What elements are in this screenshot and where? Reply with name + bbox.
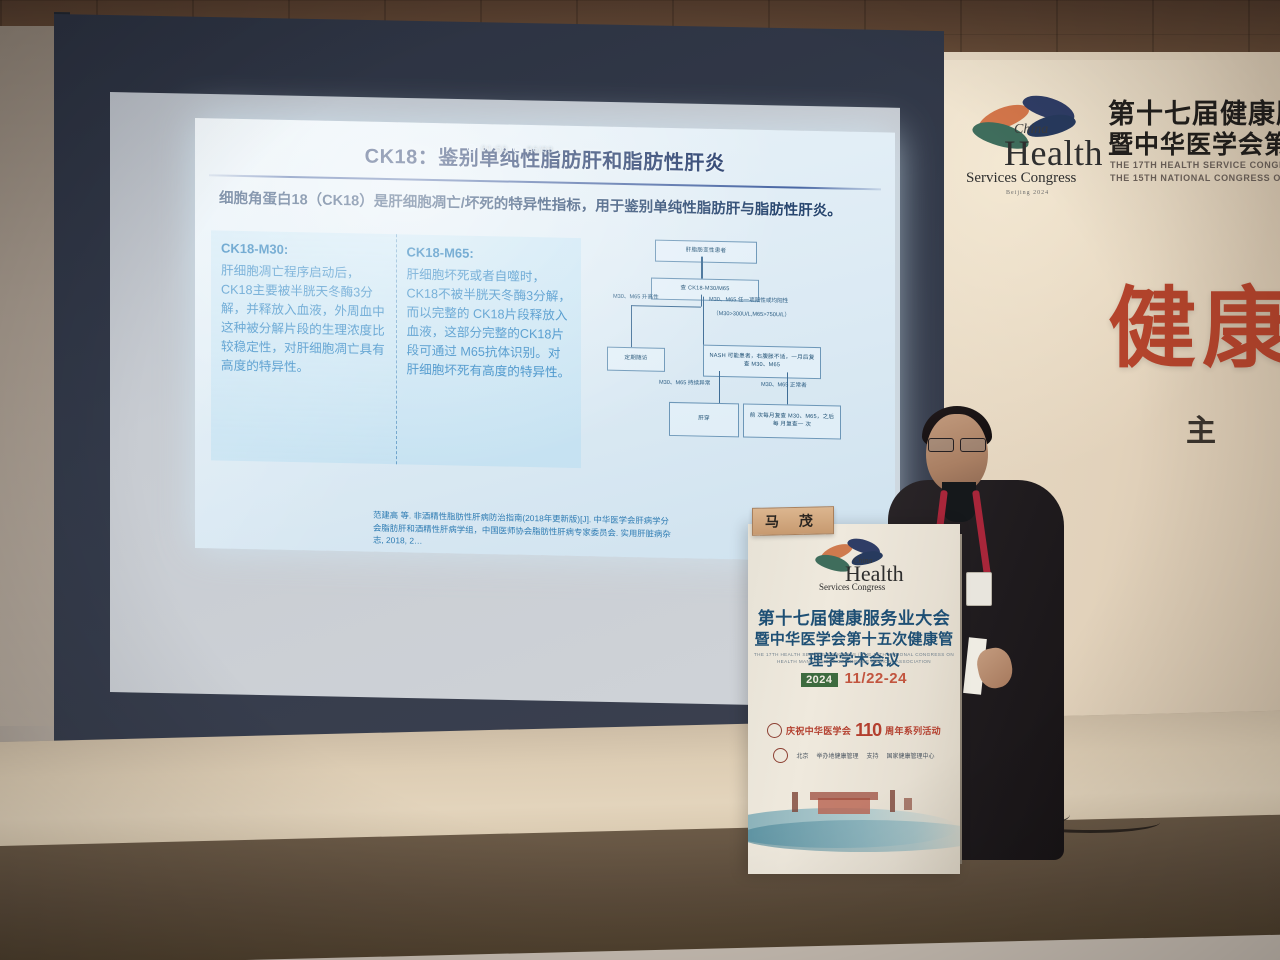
board-chinese-line-2: 暨中华医学会第 <box>1108 125 1280 161</box>
clock-icon <box>467 144 476 153</box>
elapsed-time: 01:50 <box>481 143 508 155</box>
column-m65-heading: CK18-M65: <box>407 242 572 265</box>
name-placard: 马 茂 <box>752 506 834 536</box>
flow-node-3: 定期随访 <box>607 347 665 372</box>
column-m30: CK18-M30: 肝细胞凋亡程序启动后，CK18主要被半胱天冬酶3分解，并释放… <box>211 230 397 464</box>
anniversary-number: 110 <box>855 720 881 741</box>
flow-line-1 <box>701 257 703 279</box>
column-m30-body: 肝细胞凋亡程序启动后，CK18主要被半胱天冬酶3分解，并释放入血液，外周血中这种… <box>221 261 386 379</box>
flow-node-6: 前 次每月复查 M30、M65，之后每 月复查一 次 <box>743 403 841 439</box>
column-m65-body: 肝细胞坏死或者自噬时，CK18不被半胱天冬酶3分解，而以完整的 CK18片段释放… <box>407 265 572 383</box>
flow-line-2 <box>701 295 702 307</box>
logo-beijing-text: Beijing 2024 <box>1006 190 1049 196</box>
wall-headline-chinese: 健康 <box>1108 258 1280 385</box>
flow-label-2: M30、M65 任一项阳性或均阳性 <box>709 297 788 306</box>
projected-slide: CK18：鉴别单纯性脂肪肝和脂肪性肝炎 01:50 26/33 细胞角蛋白18（… <box>195 118 895 563</box>
flow-line-3 <box>631 305 701 307</box>
flow-label-1: M30、M65 升高性 <box>613 294 659 302</box>
logo-health-text: Health <box>1004 132 1103 174</box>
anniversary-suffix: 周年系列活动 <box>885 724 941 737</box>
flow-node-1: 肝脂肪变性患者 <box>655 240 757 264</box>
flow-line-6 <box>719 371 720 403</box>
page-icon <box>513 145 522 154</box>
slide-title: CK18：鉴别单纯性脂肪肝和脂肪性肝炎 <box>195 136 895 180</box>
speaker-badge <box>966 572 992 606</box>
column-m30-heading: CK18-M30: <box>221 239 386 262</box>
podium-logo-icon: China Health Services Congress <box>811 534 897 592</box>
slide-citation: 范建高 等. 非酒精性脂肪性肝病防治指南(2018年更新版)[J]. 中华医学会… <box>373 509 673 552</box>
podium-subtitle-english: THE 17TH HEALTH SERVICE CONGRESS / THE 1… <box>748 652 960 666</box>
flow-node-5: 肝穿 <box>669 402 739 437</box>
congress-wall-board: China Health Services Congress Beijing 2… <box>962 78 1280 208</box>
podium-landscape-artwork <box>748 754 960 874</box>
flow-label-4: M30、M65 持续异常 <box>659 380 710 388</box>
podium-title-line-1: 第十七届健康服务业大会 <box>748 604 960 629</box>
podium-front-panel: China Health Services Congress 第十七届健康服务业… <box>748 524 960 874</box>
flow-line-5 <box>703 297 704 349</box>
speaker-collar <box>942 482 976 522</box>
board-english-line-1: THE 17TH HEALTH SERVICE CONGRESS <box>1110 160 1280 170</box>
speaker-glasses-icon <box>928 438 986 450</box>
anniversary-prefix: 庆祝中华医学会 <box>786 724 851 737</box>
slide-flowchart: 肝脂肪变性患者 查 CK18-M30/M65 M30、M65 升高性 M30、M… <box>591 238 879 456</box>
flow-line-4 <box>631 305 632 347</box>
slide-two-column-block: CK18-M30: 肝细胞凋亡程序启动后，CK18主要被半胱天冬酶3分解，并释放… <box>211 230 581 468</box>
column-m65: CK18-M65: 肝细胞坏死或者自噬时，CK18不被半胱天冬酶3分解，而以完整… <box>397 234 582 468</box>
logo-services-congress-text: Services Congress <box>966 170 1076 187</box>
playback-overlay: 01:50 26/33 <box>467 143 554 156</box>
wall-subheadline-chinese: 主 <box>1186 406 1216 450</box>
flow-label-3: （M30>300U/L,M65>750U/L） <box>713 311 790 320</box>
podium-anniversary-block: 庆祝中华医学会 110 周年系列活动 <box>748 720 960 741</box>
flow-node-4: NASH 可能患者，右腹胀不适，一月后复查 M30、M65 <box>703 345 821 379</box>
anniversary-seal-icon <box>767 723 782 738</box>
podium-date-block: 2024 11/22-24 <box>748 670 960 687</box>
presentation-photo-scene: CK18：鉴别单纯性脂肪肝和脂肪性肝炎 01:50 26/33 细胞角蛋白18（… <box>0 0 1280 960</box>
podium-logo-services-congress: Services Congress <box>819 582 885 592</box>
page-counter: 26/33 <box>527 144 554 156</box>
slide-lead-text: 细胞角蛋白18（CK18）是肝细胞凋亡/坏死的特异性指标，用于鉴别单纯性脂肪肝与… <box>219 189 877 225</box>
flow-label-5: M30、M65 正常者 <box>761 382 807 390</box>
speaker-head <box>926 414 988 492</box>
podium-dates: 11/22-24 <box>845 670 907 687</box>
speaker-name: 马 茂 <box>765 510 821 531</box>
podium-year: 2024 <box>801 673 837 687</box>
board-english-line-2: THE 15TH NATIONAL CONGRESS ON HEAL <box>1110 173 1280 183</box>
